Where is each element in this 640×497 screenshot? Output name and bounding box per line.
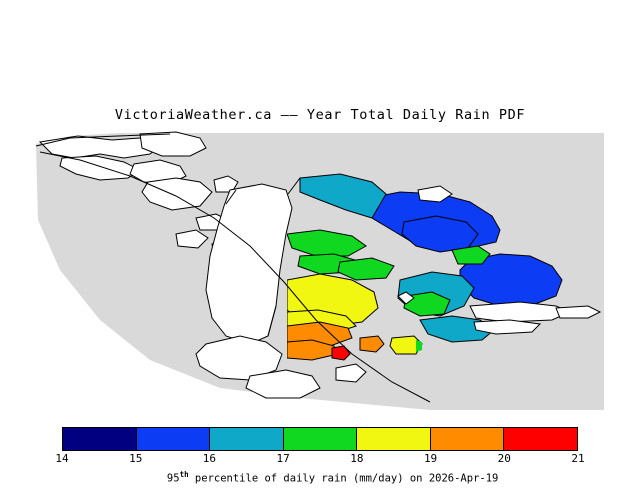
rain-choropleth-map[interactable] bbox=[0, 130, 640, 415]
caption-prefix: 95 bbox=[167, 473, 180, 485]
caption-rest: percentile of daily rain (mm/day) on 202… bbox=[189, 473, 499, 485]
caption-ordinal-suffix: th bbox=[180, 470, 189, 479]
colorbar-segment-20-21[interactable] bbox=[504, 428, 577, 450]
colorbar-segment-16-17[interactable] bbox=[210, 428, 284, 450]
page-title: VictoriaWeather.ca —— Year Total Daily R… bbox=[0, 107, 640, 123]
colorbar-segment-17-18[interactable] bbox=[284, 428, 358, 450]
colorbar-segment-14-15[interactable] bbox=[63, 428, 137, 450]
colorbar[interactable] bbox=[62, 427, 578, 451]
colorbar-segment-18-19[interactable] bbox=[357, 428, 431, 450]
region-small-island-yellow-edge bbox=[416, 340, 422, 352]
screenshot-root: VictoriaWeather.ca —— Year Total Daily R… bbox=[0, 0, 640, 480]
colorbar-segments[interactable] bbox=[62, 427, 578, 451]
map-panel[interactable] bbox=[0, 130, 640, 415]
colorbar-segment-15-16[interactable] bbox=[137, 428, 211, 450]
colorbar-caption: 95th percentile of daily rain (mm/day) o… bbox=[0, 458, 640, 497]
colorbar-segment-19-20[interactable] bbox=[431, 428, 505, 450]
